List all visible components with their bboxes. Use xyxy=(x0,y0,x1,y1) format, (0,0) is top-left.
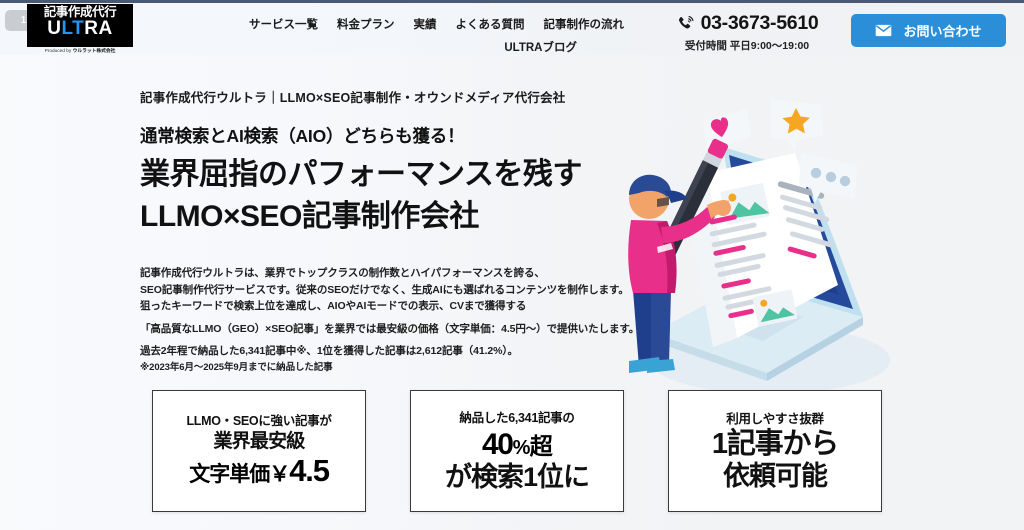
nav-secondary-row: ULTRAブログ xyxy=(175,39,649,55)
card-ranking-percent-symbol: % xyxy=(513,437,530,460)
card-ranking: 納品した6,341記事の 40 % 超 が検索1位に xyxy=(410,390,624,512)
lead-line-4: 「高品質なLLMO（GEO）×SEO記事」を業界では最安級の価格（文字単価：4.… xyxy=(140,321,670,338)
card-price-value-row: 文字単価￥ 4.5 xyxy=(189,453,329,489)
logo-letter-u: U xyxy=(47,18,61,39)
card-ranking-big: が検索1位に xyxy=(445,462,589,493)
phone-number[interactable]: 03-3673-5610 xyxy=(701,12,819,35)
stat-cards: LLMO・SEOに強い記事が 業界最安級 文字単価￥ 4.5 納品した6,341… xyxy=(152,390,882,512)
isometric-writer-laptop-illustration xyxy=(595,95,935,405)
lead-line-1: 記事作成代行ウルトラは、業界でトップクラスの制作数とハイパフォーマンスを誇る、 xyxy=(140,265,670,282)
card-price-label: 文字単価￥ xyxy=(189,458,289,488)
star-bubble-icon xyxy=(771,99,823,152)
logo-letter-l: L xyxy=(61,18,72,39)
nav-item-results[interactable]: 実績 xyxy=(414,16,437,32)
lead-line-2: SEO記事制作代行サービスです。従来のSEOだけでなく、生成AIにも選ばれるコン… xyxy=(140,282,670,299)
card-ranking-suffix: 超 xyxy=(530,427,552,461)
envelope-icon xyxy=(875,24,892,37)
nav-item-pricing[interactable]: 料金プラン xyxy=(337,16,395,32)
card-ranking-small: 納品した6,341記事の xyxy=(459,410,574,427)
card-price-value: 4.5 xyxy=(289,453,329,489)
phone-business-hours: 受付時間 平日9:00〜19:00 xyxy=(649,38,845,53)
logo-letter-r: R xyxy=(84,18,98,39)
main-navigation: サービス一覧 料金プラン 実績 よくある質問 記事制作の流れ ULTRAブログ xyxy=(175,3,649,55)
contact-button[interactable]: お問い合わせ xyxy=(851,14,1006,47)
site-header: 1.0 記事作成代行 ULTRA Produced by ウルラット株式会社 サ… xyxy=(0,3,1024,55)
card-minimum-mid: 依頼可能 xyxy=(723,461,827,492)
phone-line[interactable]: 03-3673-5610 xyxy=(649,12,845,35)
lead-line-3: 狙ったキーワードで検索上位を達成し、AIOやAIモードでの表示、CVまで獲得する xyxy=(140,298,670,315)
card-minimum: 利用しやすさ抜群 1記事から 依頼可能 xyxy=(668,390,882,512)
hero-subheadline: 通常検索とAI検索（AIO）どちらも獲る！ xyxy=(140,123,670,148)
nav-item-services[interactable]: サービス一覧 xyxy=(249,16,318,32)
hero-lead-paragraph: 記事作成代行ウルトラは、業界でトップクラスの制作数とハイパフォーマンスを誇る、 … xyxy=(140,265,670,376)
logo-tagline-prefix: Produced by xyxy=(45,48,72,54)
hero-eyebrow: 記事作成代行ウルトラ｜LLMO×SEO記事制作・オウンドメディア代行会社 xyxy=(140,87,670,106)
card-minimum-big: 1記事から xyxy=(712,428,838,461)
logo-tagline-company: ウルラット株式会社 xyxy=(73,48,116,54)
contact-button-label: お問い合わせ xyxy=(903,21,981,40)
site-logo[interactable]: 1.0 記事作成代行 ULTRA Produced by ウルラット株式会社 xyxy=(0,3,175,55)
card-price: LLMO・SEOに強い記事が 業界最安級 文字単価￥ 4.5 xyxy=(152,390,366,512)
logo-letter-t: T xyxy=(72,18,84,39)
hero-headline-line1: 業界屈指のパフォーマンスを残す xyxy=(140,154,670,196)
card-price-mid: 業界最安級 xyxy=(213,430,304,453)
top-accent-bar xyxy=(0,0,1024,3)
nav-item-process[interactable]: 記事制作の流れ xyxy=(544,16,625,32)
nav-primary-row: サービス一覧 料金プラン 実績 よくある質問 記事制作の流れ xyxy=(175,16,649,32)
header-phone-block: 03-3673-5610 受付時間 平日9:00〜19:00 xyxy=(649,3,845,53)
logo-mark: 記事作成代行 ULTRA xyxy=(27,4,133,47)
nav-item-blog[interactable]: ULTRAブログ xyxy=(504,39,577,55)
logo-tagline: Produced by ウルラット株式会社 xyxy=(30,47,131,54)
card-minimum-small: 利用しやすさ抜群 xyxy=(726,411,823,428)
hero-text-block: 記事作成代行ウルトラ｜LLMO×SEO記事制作・オウンドメディア代行会社 通常検… xyxy=(140,87,670,376)
phone-ringing-icon xyxy=(676,14,695,33)
lead-line-5: 過去2年程で納品した6,341記事中※、1位を獲得した記事は2,612記事（41… xyxy=(140,343,670,360)
card-price-small: LLMO・SEOに強い記事が xyxy=(186,413,331,430)
hero-headline-line2: LLMO×SEO記事制作会社 xyxy=(140,196,670,238)
card-ranking-pct-row: 40 % 超 xyxy=(482,427,552,462)
logo-letter-a: A xyxy=(99,18,113,39)
logo-brand-text: ULTRA xyxy=(47,19,113,38)
card-ranking-number: 40 xyxy=(482,428,513,462)
nav-item-faq[interactable]: よくある質問 xyxy=(456,16,525,32)
lead-line-footnote: ※2023年6月〜2025年9月までに納品した記事 xyxy=(140,360,670,377)
